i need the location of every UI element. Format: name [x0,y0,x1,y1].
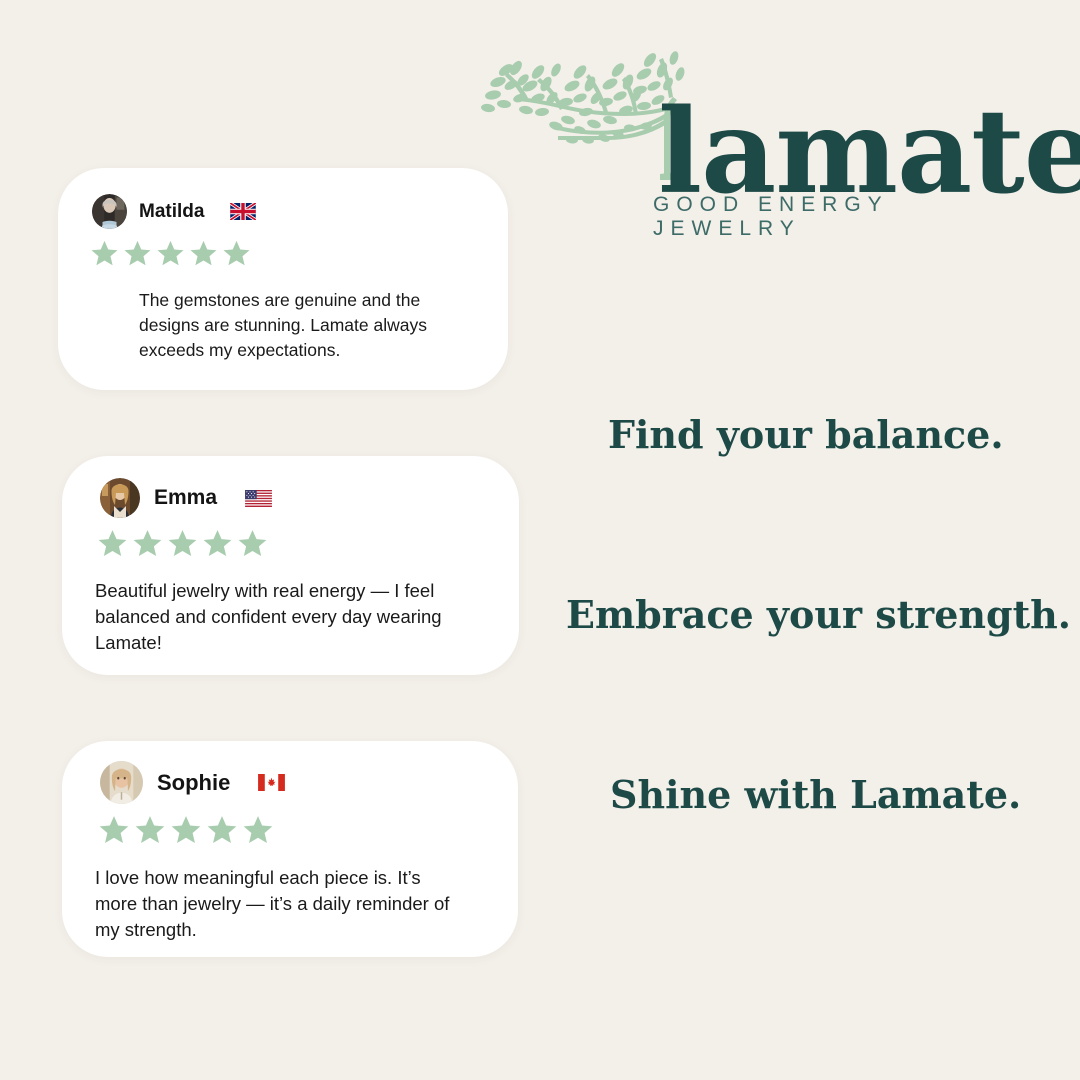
review-header: Matilda [58,168,508,229]
flag-us-icon [245,490,272,507]
reviewer-name: Emma [154,486,217,510]
star-icon [98,814,130,846]
star-icon [134,814,166,846]
star-icon [206,814,238,846]
star-rating [62,518,519,559]
star-icon [167,528,198,559]
avatar-sophie [100,761,143,804]
star-rating [62,804,518,846]
star-rating [58,229,508,268]
star-icon [189,239,218,268]
flag-ca-icon [258,774,285,791]
review-text: I love how meaningful each piece is. It’… [62,846,518,943]
review-text: The gemstones are genuine and the design… [58,268,508,363]
flag-uk-icon [230,203,256,220]
star-icon [242,814,274,846]
avatar-matilda [92,194,127,229]
star-icon [237,528,268,559]
review-header: Emma [62,456,519,518]
star-icon [123,239,152,268]
star-icon [170,814,202,846]
avatar-emma [100,478,140,518]
review-card: Sophie I love how meaningful each piece … [62,741,518,957]
review-text: Beautiful jewelry with real energy — I f… [62,559,519,656]
star-icon [202,528,233,559]
star-icon [90,239,119,268]
star-icon [222,239,251,268]
tagline-find-your-balance: Find your balance. [608,412,1004,457]
brand-logo: lamate GOOD ENERGY JEWELRY [468,40,1044,230]
star-icon [132,528,163,559]
review-card: Matilda The gemstones are genuine and th… [58,168,508,390]
brand-tagline: GOOD ENERGY JEWELRY [653,193,1044,241]
star-icon [97,528,128,559]
review-card: Emma [62,456,519,675]
reviewer-name: Sophie [157,770,230,796]
tagline-embrace-your-strength: Embrace your strength. [566,592,1071,637]
reviewer-name: Matilda [139,201,204,223]
brand-wordmark: lamate [658,102,1080,202]
star-icon [156,239,185,268]
tagline-shine-with-lamate: Shine with Lamate. [610,772,1021,817]
review-header: Sophie [62,741,518,804]
poster-canvas: lamate GOOD ENERGY JEWELRY [0,0,1080,1080]
